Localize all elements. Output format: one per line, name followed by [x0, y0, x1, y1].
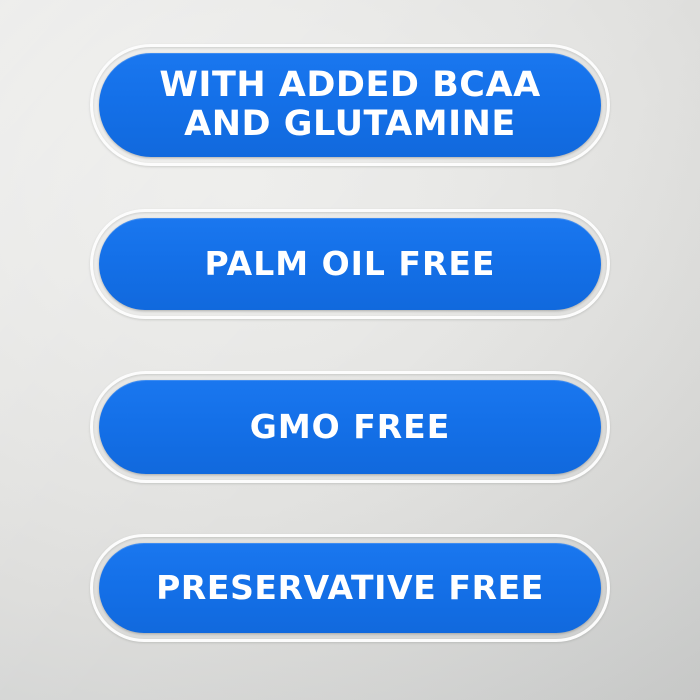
badge-palm-oil-free[interactable]: PALM OIL FREE: [90, 209, 610, 319]
badge-label-gmo-free: GMO FREE: [250, 410, 451, 445]
badge-label-palm-oil-free: PALM OIL FREE: [205, 247, 496, 282]
badge-preservative-free[interactable]: PRESERVATIVE FREE: [90, 534, 610, 642]
badge-fill-gmo: GMO FREE: [99, 380, 601, 474]
badge-label-bcaa: WITH ADDED BCAA AND GLUTAMINE: [159, 66, 540, 144]
badge-fill-preservative: PRESERVATIVE FREE: [99, 543, 601, 633]
badge-with-added-bcaa-and-glutamine[interactable]: WITH ADDED BCAA AND GLUTAMINE: [90, 44, 610, 166]
feature-badge-list: WITH ADDED BCAA AND GLUTAMINE PALM OIL F…: [0, 0, 700, 700]
badge-fill-palm-oil: PALM OIL FREE: [99, 218, 601, 310]
badge-fill-bcaa: WITH ADDED BCAA AND GLUTAMINE: [99, 53, 601, 157]
badge-gmo-free[interactable]: GMO FREE: [90, 371, 610, 483]
badge-label-preservative-free: PRESERVATIVE FREE: [156, 571, 544, 606]
